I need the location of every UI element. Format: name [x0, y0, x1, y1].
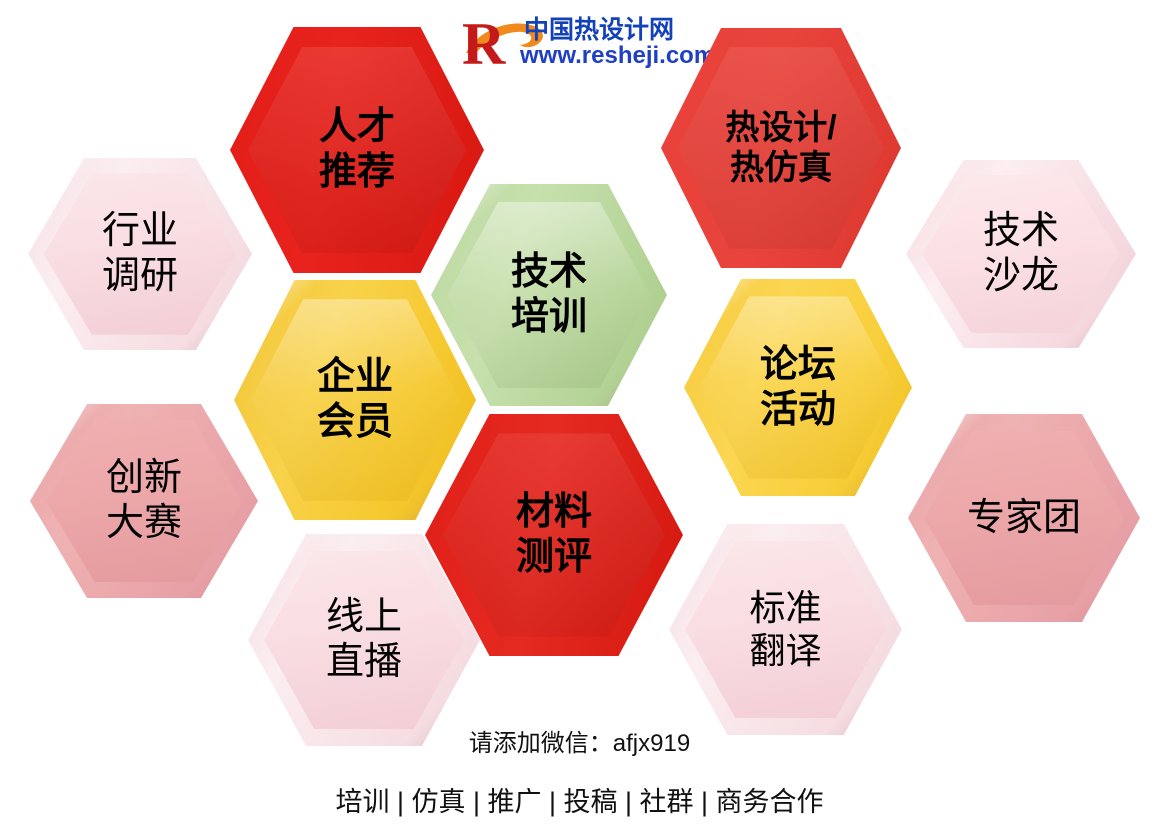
- hex-label: 热设计/ 热仿真: [725, 108, 836, 188]
- hex-forum-activity[interactable]: 论坛 活动: [684, 279, 912, 496]
- hex-tech-training[interactable]: 技术 培训: [431, 184, 667, 406]
- hex-label: 标准 翻译: [749, 587, 821, 672]
- hex-expert-team[interactable]: 专家团: [908, 414, 1140, 622]
- hex-talent-recommend[interactable]: 人才 推荐: [230, 27, 484, 273]
- hex-label: 行业 调研: [102, 209, 178, 299]
- services-list-text: 培训 | 仿真 | 推广 | 投稿 | 社群 | 商务合作: [0, 780, 1159, 819]
- hex-label: 论坛 活动: [760, 343, 836, 433]
- hex-label: 专家团: [967, 496, 1081, 541]
- hexagon-service-map: R 中国热设计网 www.resheji.com 行业 调研 创新 大赛 人才 …: [0, 0, 1159, 828]
- logo-mark-letter: R: [462, 14, 505, 74]
- hex-label: 技术 沙龙: [983, 209, 1059, 299]
- hex-innovation-contest[interactable]: 创新 大赛: [30, 404, 258, 598]
- hex-tech-salon[interactable]: 技术 沙龙: [906, 160, 1136, 348]
- hex-label: 企业 会员: [317, 355, 393, 445]
- logo-url-text: www.resheji.com: [520, 42, 715, 70]
- logo-brand-text: 中国热设计网: [524, 10, 674, 46]
- hex-corporate-member[interactable]: 企业 会员: [234, 280, 476, 520]
- wechat-contact-text: 请添加微信：afjx919: [0, 723, 1159, 758]
- hex-label: 线上 直播: [326, 595, 402, 685]
- hex-label: 材料 测评: [516, 490, 592, 580]
- hex-industry-research[interactable]: 行业 调研: [28, 158, 252, 350]
- hex-label: 创新 大赛: [106, 456, 182, 546]
- hex-standard-translate[interactable]: 标准 翻译: [669, 524, 902, 735]
- hex-label: 人才 推荐: [319, 105, 395, 195]
- hex-label: 技术 培训: [511, 250, 587, 340]
- site-logo[interactable]: R 中国热设计网 www.resheji.com: [462, 6, 672, 80]
